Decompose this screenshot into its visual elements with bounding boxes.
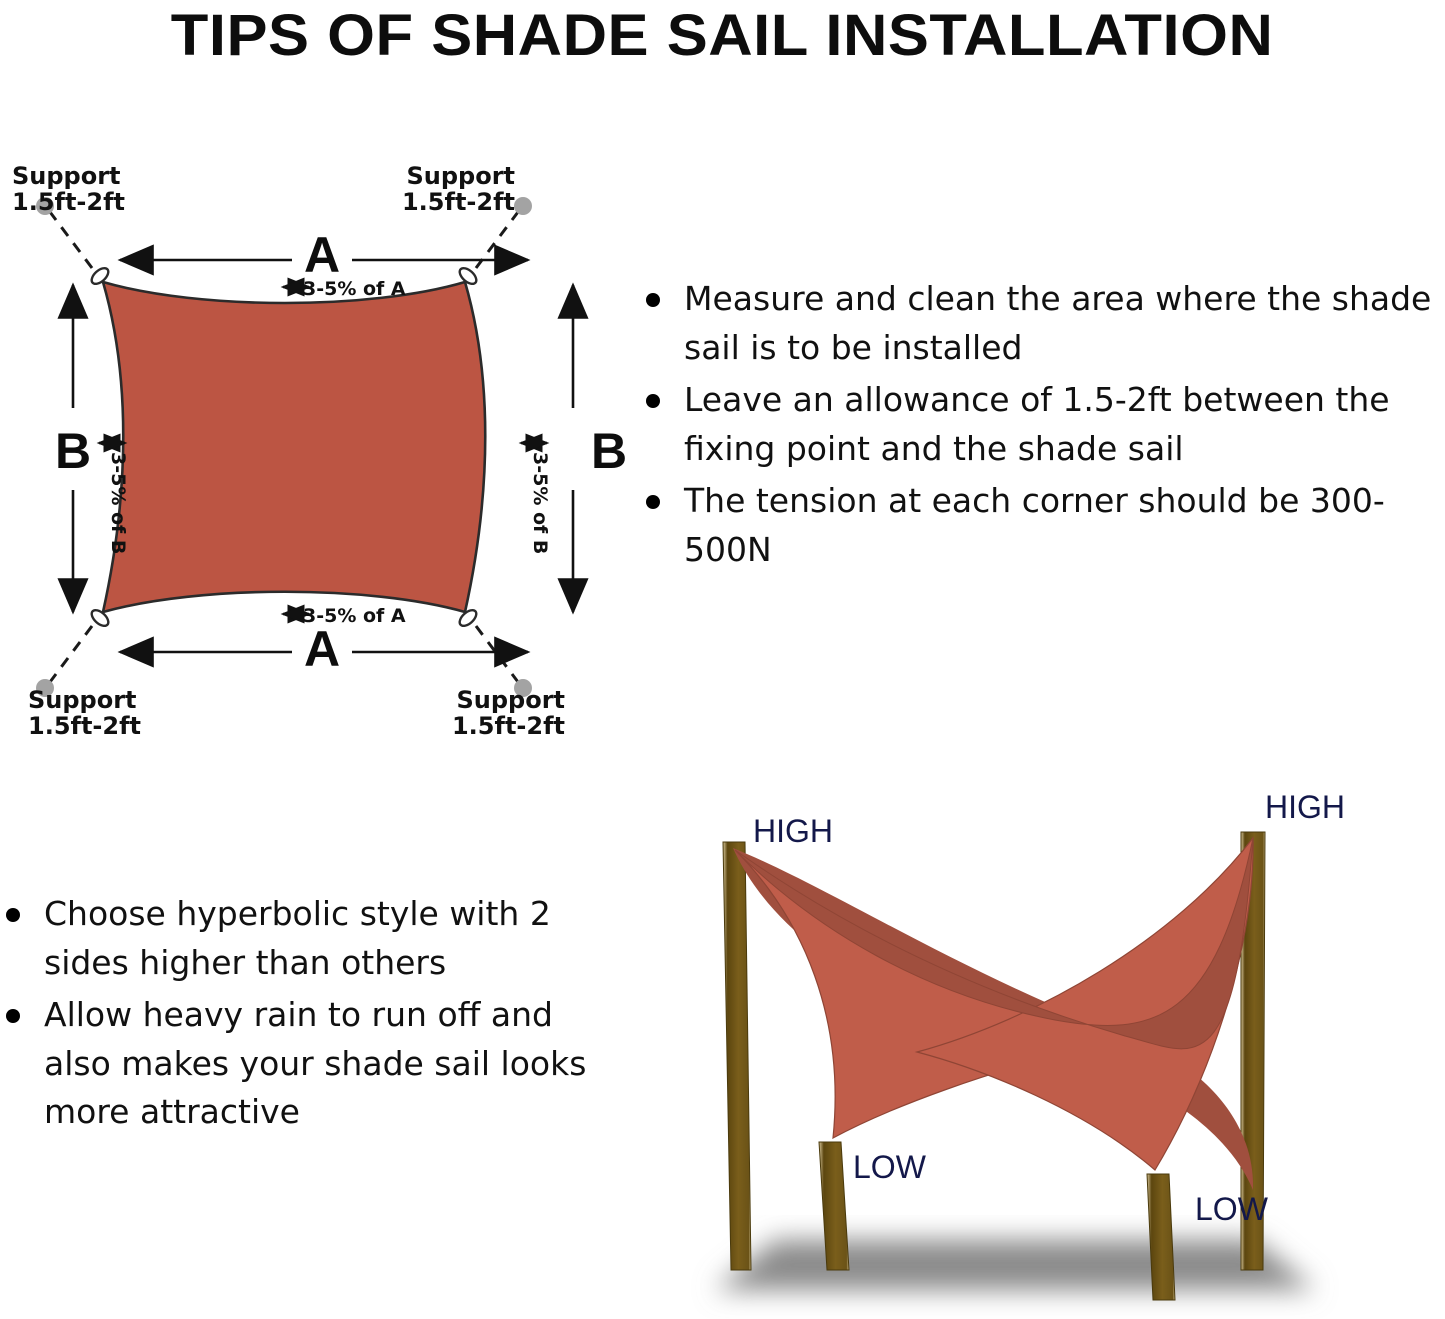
svg-text:1.5ft-2ft: 1.5ft-2ft (28, 712, 141, 740)
tip-text: Allow heavy rain to run off and also mak… (44, 995, 586, 1131)
curve-label-bottom: 3-5% of A (303, 605, 406, 627)
cable-bottom-right (476, 626, 518, 682)
support-label-top-right: Support 1.5ft-2ft (402, 162, 515, 216)
dimension-right-b: B 3-5% of B (521, 285, 627, 612)
label-high-left: HIGH (753, 813, 833, 849)
support-label-bottom-left: Support 1.5ft-2ft (28, 686, 141, 740)
tip-item: Allow heavy rain to run off and also mak… (0, 991, 620, 1137)
cable-bottom-left (50, 626, 92, 682)
label-high-right: HIGH (1265, 789, 1345, 825)
tip-text: Leave an allowance of 1.5-2ft between th… (684, 380, 1390, 468)
bullet-dot-icon (646, 293, 660, 307)
bullet-dot-icon (646, 394, 660, 408)
support-label-bottom-right: Support 1.5ft-2ft (452, 686, 565, 740)
tip-text: Choose hyperbolic style with 2 sides hig… (44, 894, 551, 982)
bullet-dot-icon (646, 495, 660, 509)
svg-text:1.5ft-2ft: 1.5ft-2ft (12, 188, 125, 216)
svg-text:1.5ft-2ft: 1.5ft-2ft (402, 188, 515, 216)
page-title: TIPS OF SHADE SAIL INSTALLATION (171, 7, 1274, 65)
svg-text:Support: Support (12, 162, 121, 190)
tip-item: Measure and clean the area where the sha… (640, 275, 1445, 372)
dimension-label-right-b: B (591, 423, 627, 479)
tip-text: Measure and clean the area where the sha… (684, 279, 1431, 367)
svg-text:1.5ft-2ft: 1.5ft-2ft (452, 712, 565, 740)
bullet-dot-icon (6, 1009, 20, 1023)
tip-item: Choose hyperbolic style with 2 sides hig… (0, 890, 620, 987)
dimension-label-left-b: B (55, 423, 91, 479)
sail-shape (103, 282, 485, 612)
tip-text: The tension at each corner should be 300… (684, 481, 1385, 569)
dimension-label-top-a: A (304, 227, 340, 283)
hyperbolic-sail-diagram: HIGH HIGH LOW LOW (655, 770, 1445, 1319)
svg-text:Support: Support (28, 686, 137, 714)
cable-top-left (50, 212, 92, 268)
curve-label-top: 3-5% of A (303, 278, 406, 300)
post-high-left (723, 842, 751, 1270)
ground-shadow (715, 1240, 1315, 1290)
curve-label-right: 3-5% of B (529, 452, 551, 554)
support-label-top-left: Support 1.5ft-2ft (12, 162, 125, 216)
label-low-right: LOW (1195, 1191, 1269, 1227)
bullet-dot-icon (6, 908, 20, 922)
page-title-bar: TIPS OF SHADE SAIL INSTALLATION (0, 0, 1445, 72)
rectangular-sail-diagram: A 3-5% of A A 3-5% of A B 3-5% of B B (0, 160, 650, 740)
curve-label-left: 3-5% of B (107, 452, 129, 554)
dimension-label-bottom-a: A (304, 621, 340, 677)
support-dot-top-right (514, 197, 532, 215)
svg-text:Support: Support (406, 162, 515, 190)
svg-text:Support: Support (456, 686, 565, 714)
tip-item: Leave an allowance of 1.5-2ft between th… (640, 376, 1445, 473)
label-low-front: LOW (853, 1149, 927, 1185)
tip-item: The tension at each corner should be 300… (640, 477, 1445, 574)
installation-tips-right: Measure and clean the area where the sha… (640, 275, 1445, 578)
installation-tips-left: Choose hyperbolic style with 2 sides hig… (0, 890, 620, 1141)
